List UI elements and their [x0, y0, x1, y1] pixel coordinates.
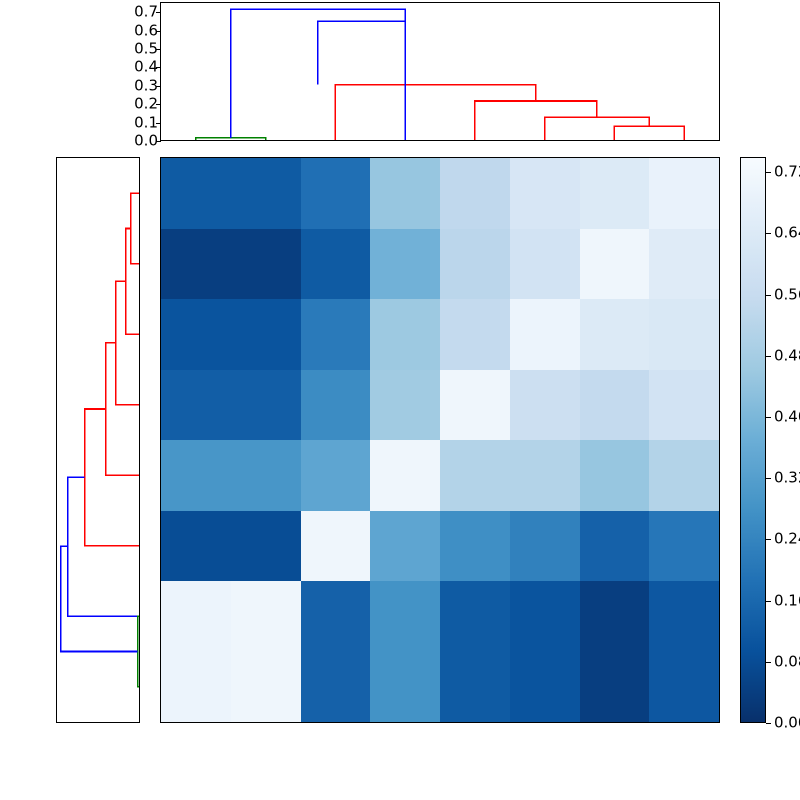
dendrogram-link	[475, 101, 597, 140]
heatmap-cell	[161, 440, 231, 511]
heatmap-cell	[510, 581, 580, 652]
dendrogram-link	[545, 117, 650, 140]
row-dendrogram	[56, 157, 140, 723]
heatmap-cell	[161, 158, 231, 229]
heatmap	[160, 157, 720, 723]
colorbar-tick	[766, 478, 771, 479]
colorbar-tick	[766, 662, 771, 663]
dendrogram-axis-tick	[156, 31, 161, 32]
colorbar-tick	[766, 172, 771, 173]
dendrogram-link	[68, 477, 139, 616]
heatmap-cell	[649, 581, 719, 652]
dendrogram-link	[614, 126, 684, 140]
colorbar-tick-label: 0.56	[774, 287, 800, 302]
colorbar-tick-label: 0.48	[774, 348, 800, 363]
dendrogram-link	[138, 616, 139, 687]
colorbar-tick-label: 0.08	[774, 654, 800, 669]
heatmap-cell	[649, 229, 719, 300]
colorbar-gradient	[741, 158, 765, 722]
column-dendrogram	[160, 2, 720, 141]
heatmap-cell	[161, 229, 231, 300]
heatmap-cell	[231, 229, 301, 300]
heatmap-cell	[161, 652, 231, 723]
heatmap-cell	[510, 158, 580, 229]
heatmap-grid	[161, 158, 719, 722]
dendrogram-link	[116, 281, 139, 404]
heatmap-cell	[231, 581, 301, 652]
dendrogram-axis-tick	[156, 86, 161, 87]
colorbar-tick-labels: 0.000.080.160.240.320.400.480.560.640.72	[766, 157, 800, 723]
heatmap-cell	[649, 158, 719, 229]
heatmap-cell	[301, 158, 371, 229]
colorbar-tick-label: 0.40	[774, 410, 800, 425]
heatmap-cell	[580, 440, 650, 511]
dendrogram-link	[131, 193, 139, 264]
dendrogram-axis-tick	[156, 67, 161, 68]
heatmap-cell	[580, 299, 650, 370]
colorbar-tick	[766, 295, 771, 296]
colorbar	[740, 157, 766, 723]
heatmap-cell	[649, 299, 719, 370]
colorbar-tick-label: 0.16	[774, 593, 800, 608]
colorbar-tick-label: 0.24	[774, 532, 800, 547]
dendrogram-link	[126, 229, 139, 335]
heatmap-cell	[440, 158, 510, 229]
heatmap-cell	[649, 440, 719, 511]
heatmap-cell	[440, 229, 510, 300]
heatmap-cell	[370, 581, 440, 652]
heatmap-cell	[649, 370, 719, 441]
heatmap-cell	[580, 158, 650, 229]
heatmap-cell	[161, 581, 231, 652]
column-dendrogram-canvas	[161, 3, 719, 140]
dendrogram-axis-tick	[156, 104, 161, 105]
heatmap-cell	[301, 370, 371, 441]
heatmap-cell	[161, 370, 231, 441]
clustermap-figure: 0.00.10.20.30.40.50.60.7 0.000.080.160.2…	[0, 0, 800, 800]
heatmap-cell	[161, 511, 231, 582]
heatmap-cell	[370, 652, 440, 723]
heatmap-cell	[301, 581, 371, 652]
heatmap-cell	[440, 652, 510, 723]
heatmap-cell	[440, 370, 510, 441]
colorbar-tick	[766, 539, 771, 540]
dendrogram-axis-tick	[156, 49, 161, 50]
heatmap-cell	[510, 440, 580, 511]
colorbar-tick-label: 0.72	[774, 165, 800, 180]
heatmap-cell	[370, 158, 440, 229]
heatmap-cell	[301, 511, 371, 582]
heatmap-cell	[580, 511, 650, 582]
heatmap-cell	[649, 511, 719, 582]
heatmap-cell	[440, 581, 510, 652]
heatmap-cell	[440, 440, 510, 511]
column-dendrogram-tick-marks	[152, 2, 161, 141]
heatmap-cell	[231, 370, 301, 441]
dendrogram-axis-tick	[156, 12, 161, 13]
heatmap-cell	[161, 299, 231, 370]
heatmap-cell	[370, 299, 440, 370]
heatmap-cell	[301, 299, 371, 370]
colorbar-tick	[766, 723, 771, 724]
heatmap-cell	[580, 370, 650, 441]
dendrogram-link	[335, 85, 535, 140]
heatmap-cell	[440, 299, 510, 370]
heatmap-cell	[510, 370, 580, 441]
colorbar-tick	[766, 356, 771, 357]
dendrogram-axis-tick	[156, 123, 161, 124]
colorbar-tick	[766, 233, 771, 234]
heatmap-cell	[370, 229, 440, 300]
heatmap-cell	[510, 299, 580, 370]
heatmap-cell	[649, 652, 719, 723]
dendrogram-link	[85, 409, 139, 546]
colorbar-tick-label: 0.00	[774, 716, 800, 731]
heatmap-cell	[580, 652, 650, 723]
heatmap-cell	[301, 229, 371, 300]
heatmap-cell	[370, 440, 440, 511]
heatmap-cell	[231, 158, 301, 229]
heatmap-cell	[440, 511, 510, 582]
heatmap-cell	[231, 511, 301, 582]
heatmap-cell	[231, 440, 301, 511]
heatmap-cell	[510, 652, 580, 723]
heatmap-cell	[301, 440, 371, 511]
heatmap-cell	[580, 229, 650, 300]
heatmap-cell	[231, 652, 301, 723]
row-dendrogram-canvas	[57, 158, 139, 722]
dendrogram-link	[106, 343, 139, 476]
colorbar-tick-label: 0.32	[774, 471, 800, 486]
heatmap-cell	[580, 581, 650, 652]
colorbar-tick	[766, 417, 771, 418]
heatmap-cell	[510, 511, 580, 582]
heatmap-cell	[370, 370, 440, 441]
heatmap-cell	[301, 652, 371, 723]
dendrogram-axis-tick	[156, 141, 161, 142]
colorbar-tick-label: 0.64	[774, 226, 800, 241]
dendrogram-link	[196, 138, 266, 140]
dendrogram-link	[61, 546, 138, 651]
dendrogram-link	[318, 21, 405, 140]
heatmap-cell	[231, 299, 301, 370]
heatmap-cell	[510, 229, 580, 300]
colorbar-tick	[766, 601, 771, 602]
heatmap-cell	[370, 511, 440, 582]
